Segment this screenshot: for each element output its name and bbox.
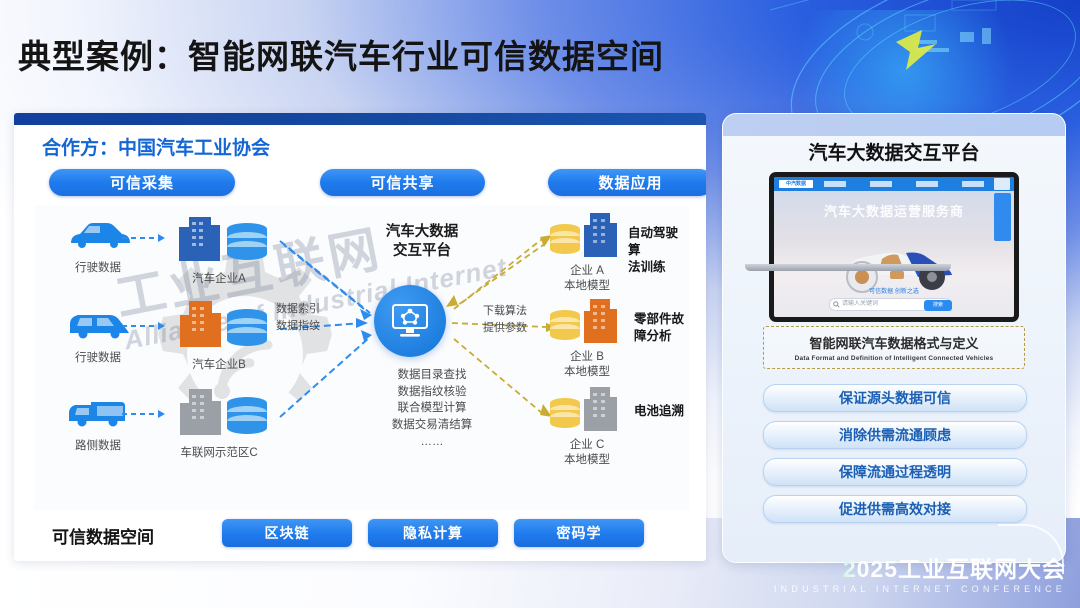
application-b-label: 零部件故 障分析 [634,311,684,345]
standard-definition-box: 智能网联汽车数据格式与定义 Data Format and Definition… [763,326,1025,369]
tech-pill-blockchain[interactable]: 区块链 [222,519,352,547]
consumer-a-label-2: 本地模型 [564,280,610,292]
building-orange-icon [584,299,617,343]
website-nav-items [824,181,994,187]
laptop-base [745,264,951,271]
benefit-button-1[interactable]: 保证源头数据可信 [763,384,1027,412]
stage-pill-application[interactable]: 数据应用 [548,169,706,196]
right-panel-title: 汽车大数据交互平台 [723,138,1065,165]
building-gray-icon [584,387,617,431]
yellow-store-building-orange-icon [548,297,626,345]
yellow-store-building-gray-icon [548,385,626,433]
stage-pill-sharing[interactable]: 可信共享 [320,169,485,196]
trusted-data-space-label: 可信数据空间 [52,523,154,548]
yellow-database-icon [550,224,580,254]
stage-pill-collection[interactable]: 可信采集 [49,169,235,196]
consumer-b-node: 企业 B 本地模型 [547,297,627,380]
page-title: 典型案例：智能网联汽车行业可信数据空间 [18,30,664,78]
application-a-line2: 法训练 [628,260,666,274]
concept-car-image [826,231,966,293]
benefit-button-3[interactable]: 保障流通过程透明 [763,458,1027,486]
tech-pill-cryptography[interactable]: 密码学 [514,519,644,547]
application-b-line1: 零部件故 [634,312,684,326]
panel-top-accent-bar [14,113,706,125]
website-navbar: 中汽数据 [774,177,1014,191]
website-hero-text: 汽车大数据运营服务商 [774,201,1014,220]
consumer-b-label-2: 本地模型 [564,366,610,378]
benefit-button-4[interactable]: 促进供需高效对接 [763,495,1027,523]
right-platform-panel: 汽车大数据交互平台 中汽数据 汽车大数据运营服务商 [722,113,1066,563]
website-search-placeholder: 请输入关键词 [842,299,878,310]
yellow-database-icon [550,310,580,340]
laptop-mockup: 中汽数据 汽车大数据运营服务商 可信数据 创新之选 [769,172,1019,322]
application-a-line1: 自动驾驶算 [628,226,678,257]
right-panel-header-strip [723,114,1065,136]
consumer-c-label-1: 企业 C [570,439,605,451]
standard-title-cn: 智能网联汽车数据格式与定义 [768,333,1020,352]
left-diagram-panel: 合作方：中国汽车工业协会 可信采集 可信共享 数据应用 工业互联网 Allian… [14,113,706,561]
tech-pill-privacy-computing[interactable]: 隐私计算 [368,519,498,547]
consumer-b-label-1: 企业 B [570,351,604,363]
laptop-screen-frame: 中汽数据 汽车大数据运营服务商 可信数据 创新之选 [769,172,1019,322]
conference-logo: 2025工业互联网大会 INDUSTRIAL INTERNET CONFEREN… [774,558,1066,594]
consumer-a-label-1: 企业 A [570,265,604,277]
application-a-label: 自动驾驶算 法训练 [628,225,689,276]
application-c-label: 电池追溯 [634,403,684,420]
consumer-c-node: 企业 C 本地模型 [547,385,627,468]
consumer-c-label-2: 本地模型 [564,454,610,466]
standard-title-en: Data Format and Definition of Intelligen… [768,355,1020,362]
website-screenshot: 中汽数据 汽车大数据运营服务商 可信数据 创新之选 [774,177,1014,317]
consumer-a-node: 企业 A 本地模型 [547,211,627,294]
benefit-button-2[interactable]: 消除供需流通顾虑 [763,421,1027,449]
website-nav-button[interactable] [994,178,1010,190]
flow-label-right: 下载算法提供参数 [471,303,539,336]
partner-label: 合作方：中国汽车工业协会 [42,133,270,160]
website-keyword-line: 可信数据 创新之选 [774,286,1014,295]
website-search-button-label: 搜索 [924,300,952,311]
website-search-button[interactable]: 搜索 [924,300,952,311]
website-brand-logo: 中汽数据 [779,180,813,188]
application-b-line2: 障分析 [634,329,672,343]
search-icon [833,301,840,308]
conference-subtitle: INDUSTRIAL INTERNET CONFERENCE [774,584,1066,594]
architecture-diagram: 工业互联网 Alliance of Industrial Internet 行驶… [34,205,689,510]
building-blue-icon [584,213,617,257]
yellow-store-building-blue-icon [548,211,626,259]
yellow-database-icon [550,398,580,428]
